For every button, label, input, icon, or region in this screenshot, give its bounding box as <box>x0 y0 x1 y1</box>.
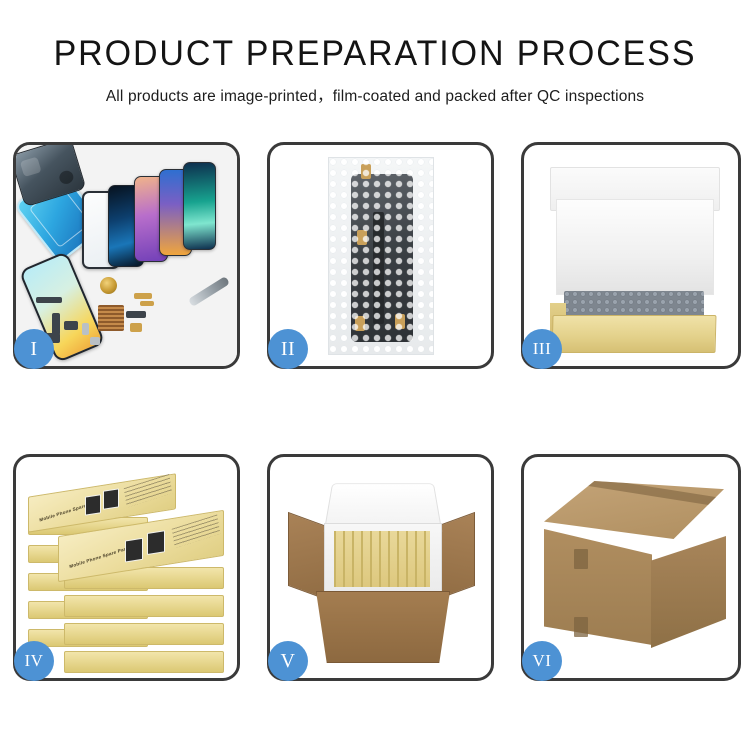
page-title: PRODUCT PREPARATION PROCESS <box>11 36 739 73</box>
screwdriver-icon <box>188 276 230 307</box>
tape-tab-lower-right-icon <box>395 314 405 329</box>
tape-tab-middle-icon <box>357 230 367 245</box>
screw-grid-icon <box>98 305 124 331</box>
stacked-box <box>64 595 224 617</box>
screw-set-icon <box>90 337 100 345</box>
bubble-wrap-bag-graphic <box>328 157 434 355</box>
phone-lineup-graphic <box>16 145 237 366</box>
box-window-left <box>85 494 101 516</box>
panel-3-image <box>524 145 738 366</box>
box-window-right <box>147 530 165 555</box>
box-print-lines <box>124 474 173 508</box>
vibration-motor-icon <box>100 277 117 294</box>
box-window-right <box>103 488 119 510</box>
sim-tray-icon <box>82 323 89 335</box>
panel-boxes-stacked: Mobile Phone Spare Parts Mobile Phone Sp… <box>13 454 240 681</box>
carton-tape-upper <box>574 549 588 569</box>
carton-tape-lower <box>574 617 588 637</box>
box-label-text: Mobile Phone Spare Parts <box>69 545 131 569</box>
camera-module-icon <box>64 321 78 330</box>
carton-body <box>316 591 450 663</box>
box-stack-graphic: Mobile Phone Spare Parts Mobile Phone Sp… <box>26 471 227 668</box>
panel-sealed-carton: VI <box>521 454 741 681</box>
step-badge-5: V <box>268 641 308 681</box>
foam-cooler-graphic <box>282 473 479 664</box>
panel-5-image <box>270 457 491 678</box>
step-badge-3: III <box>522 329 562 369</box>
antenna-strip-icon <box>52 313 60 335</box>
box-window-left <box>125 538 143 563</box>
page-subtitle: All products are image-printed，film-coat… <box>0 84 750 106</box>
carton-front-face <box>544 529 652 645</box>
panel-1-image <box>16 145 237 366</box>
tape-tab-top-icon <box>361 164 371 179</box>
panel-bubble-wrap: II <box>267 142 494 369</box>
stacked-box <box>64 651 224 673</box>
flex-cable-icon <box>36 297 62 303</box>
battery-connector-icon <box>130 323 142 332</box>
carton-side-face <box>651 536 726 648</box>
packed-yellow-boxes <box>334 531 430 587</box>
process-steps-grid: I II <box>13 142 740 681</box>
open-kraft-box-graphic <box>542 163 726 348</box>
step-badge-4: IV <box>14 641 54 681</box>
carton-top-face <box>544 481 724 539</box>
box-front-panel <box>552 315 717 353</box>
tape-tab-lower-left-icon <box>355 316 365 331</box>
gold-contact-icon <box>140 301 154 306</box>
ribbon-cable-icon <box>126 311 146 318</box>
phone-screen-teal-icon <box>183 162 216 250</box>
box-print-lines <box>172 514 221 548</box>
panel-product-components: I <box>13 142 240 369</box>
panel-inner-box: III <box>521 142 741 369</box>
sealed-carton-graphic <box>538 481 726 658</box>
page-header: PRODUCT PREPARATION PROCESS All products… <box>0 0 750 106</box>
panel-6-image <box>524 457 738 678</box>
part-strip <box>373 212 384 324</box>
step-badge-2: II <box>268 329 308 369</box>
panel-4-image: Mobile Phone Spare Parts Mobile Phone Sp… <box>16 457 237 678</box>
step-badge-6: VI <box>522 641 562 681</box>
gold-connector-icon <box>134 293 152 299</box>
carton-top-seam <box>582 476 722 507</box>
panel-2-image <box>270 145 491 366</box>
step-badge-1: I <box>14 329 54 369</box>
box-foam-liner <box>556 199 714 295</box>
panel-foam-carton: V <box>267 454 494 681</box>
stacked-box <box>64 623 224 645</box>
